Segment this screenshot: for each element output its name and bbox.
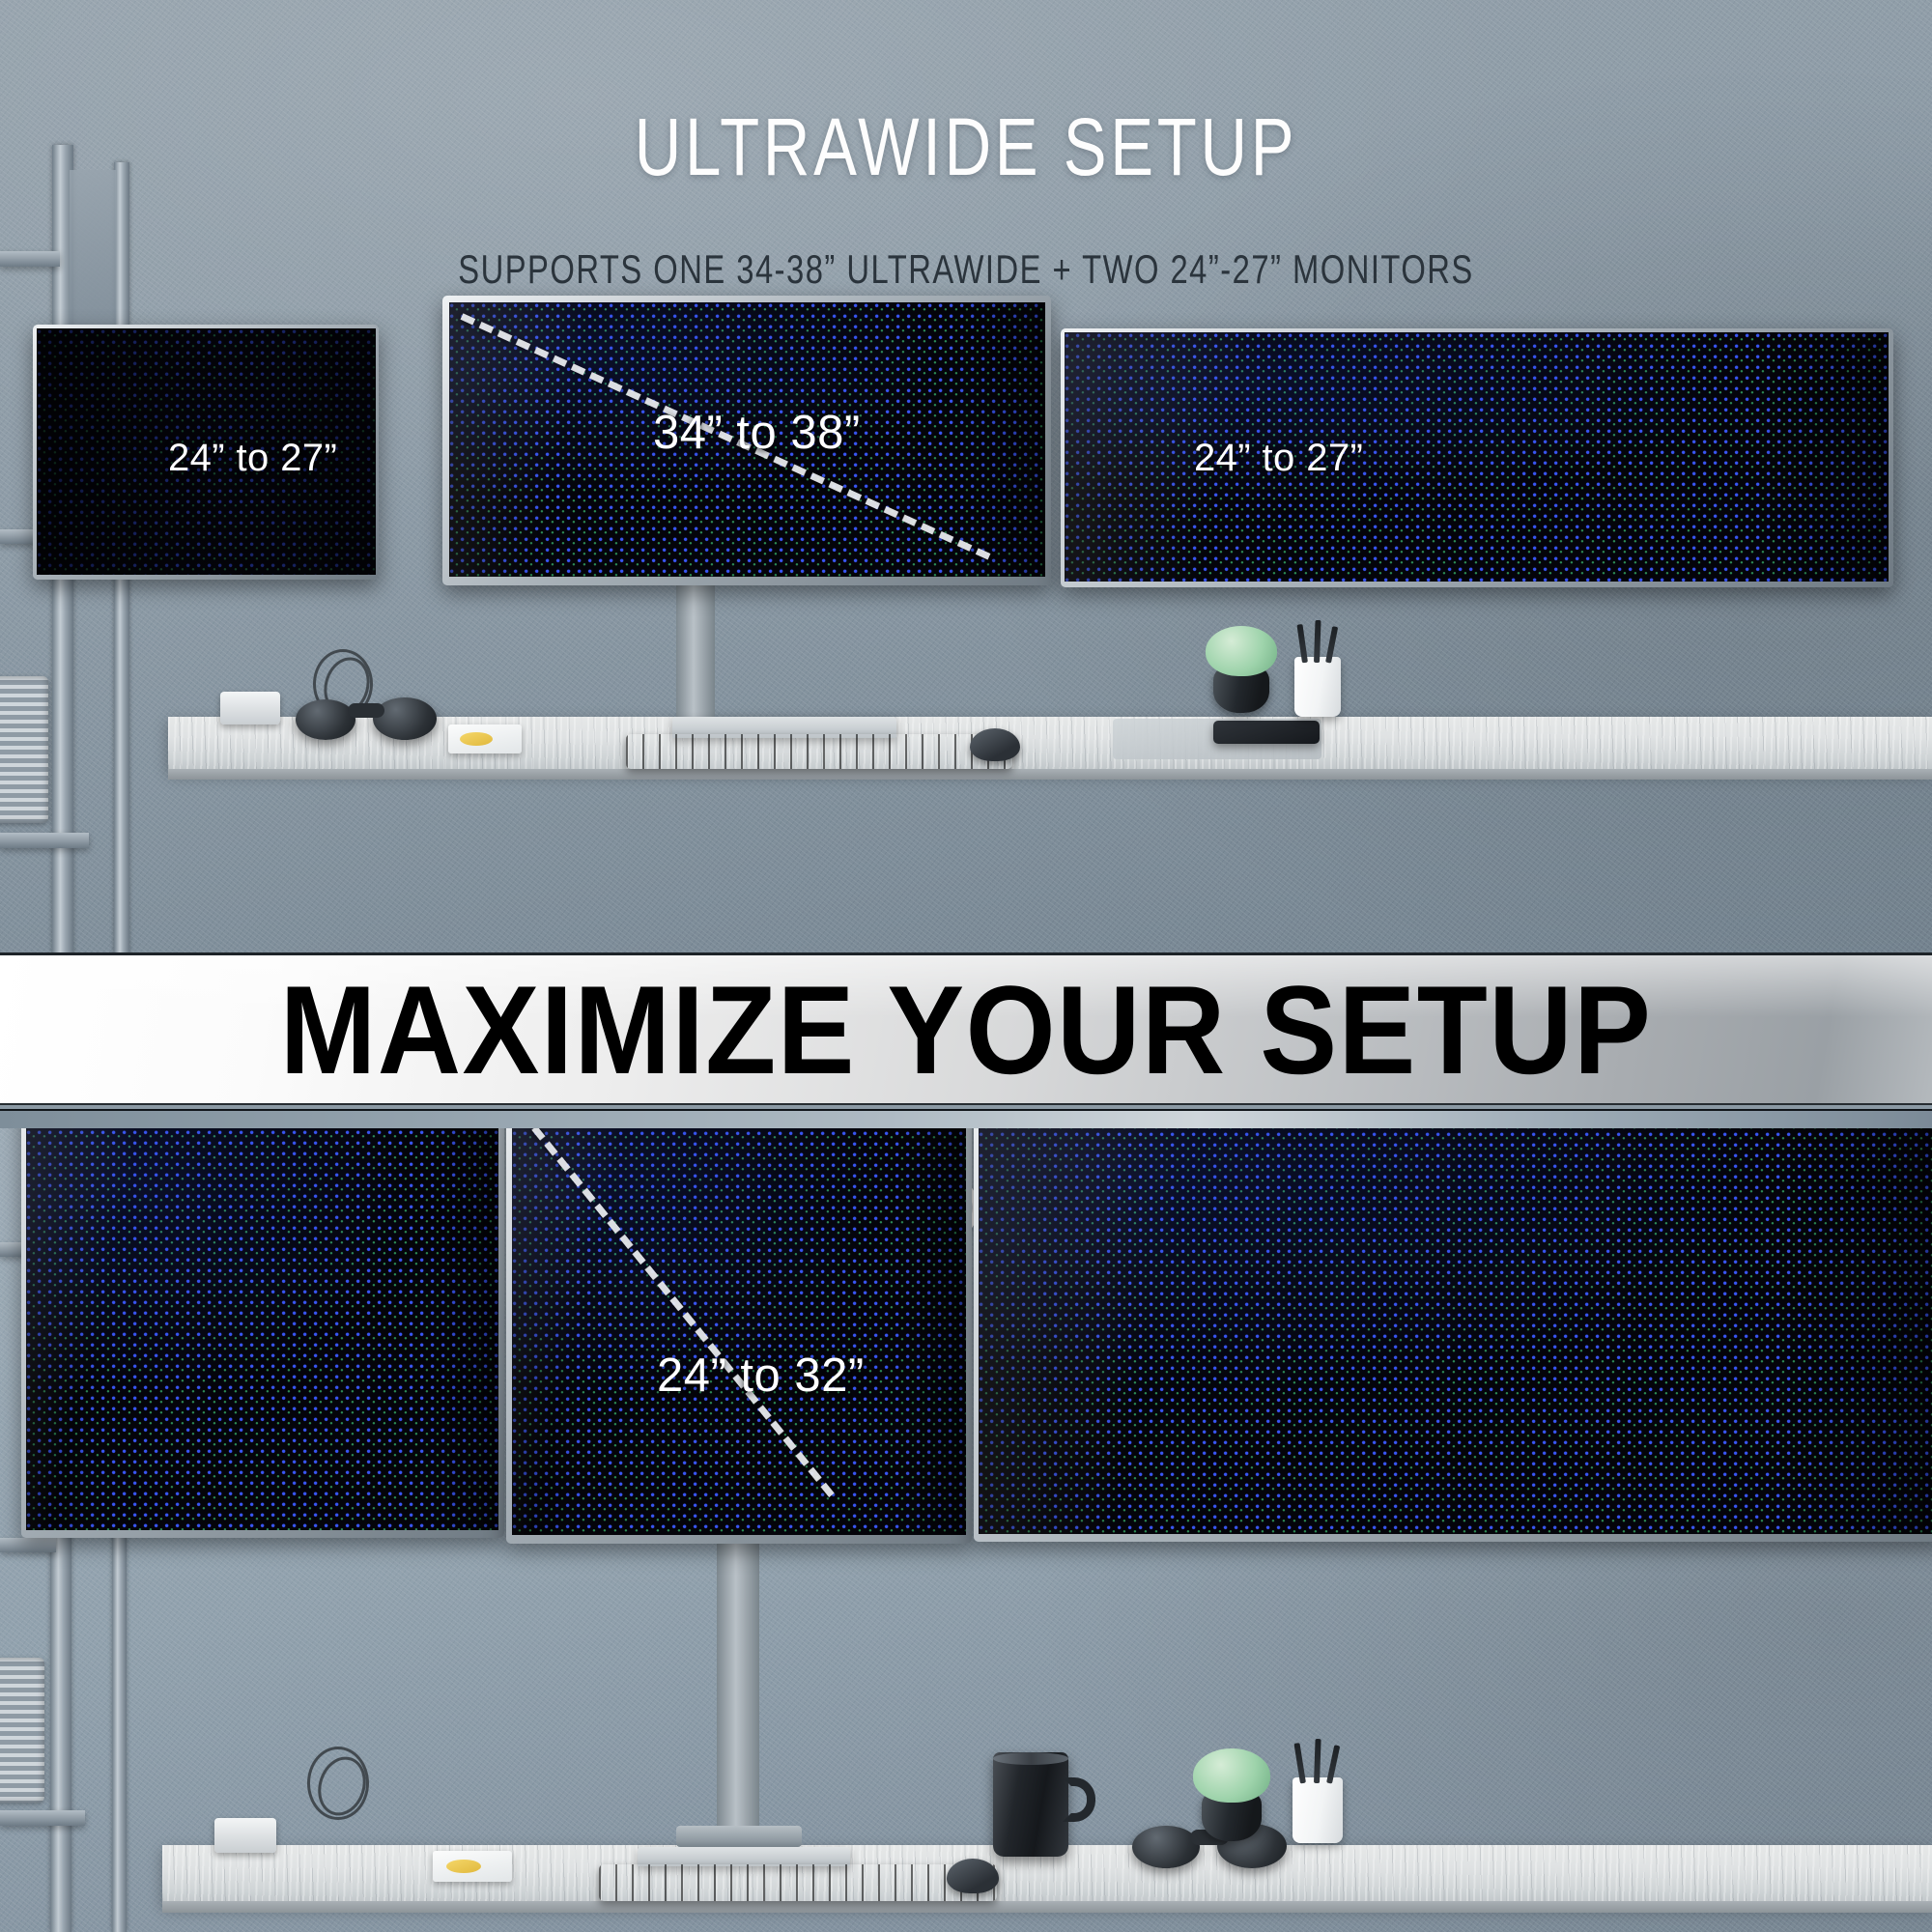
center-monitor-size-label: 34” to 38”: [653, 406, 861, 460]
headphone-band: [348, 703, 384, 718]
succulent-top: [1206, 626, 1277, 676]
mug-rim: [993, 1752, 1068, 1765]
banner-plate: MAXIMIZE YOUR SETUP: [0, 952, 1932, 1105]
charging-puck: [214, 1818, 276, 1853]
center-monitor-size-label: 24” to 32”: [657, 1349, 865, 1403]
succulent-bottom: [1193, 1748, 1270, 1803]
plant-pot-bottom: [1202, 1791, 1262, 1841]
maximize-your-setup-banner: MAXIMIZE YOUR SETUP: [0, 952, 1932, 1128]
headphones-top: [296, 690, 440, 740]
banner-bottom-strip: [0, 1109, 1932, 1128]
coffee-mug: [993, 1752, 1068, 1857]
notepad: [433, 1851, 512, 1882]
keyboard-bottom: [599, 1864, 997, 1901]
pencil-2: [1314, 620, 1321, 663]
desk-edge: [168, 769, 1932, 780]
left-monitor-size-label: 24” to 27”: [168, 437, 337, 480]
right-monitor-size-label: 24” to 27”: [1194, 437, 1363, 480]
pencil-cup-top: [1294, 657, 1341, 717]
notepad-sticker: [446, 1860, 481, 1873]
mouse-bottom: [947, 1859, 999, 1893]
monitor-stand-pole: [717, 1542, 759, 1843]
right-monitor-screen: [1065, 332, 1889, 582]
headphone-earcup-right: [373, 697, 437, 740]
monitor-stand-pole: [676, 583, 715, 719]
notepad: [448, 724, 522, 753]
standard-monitor-setup-panel: 24” to 32”: [0, 1128, 1932, 1932]
center-monitor-bottom: [506, 1128, 972, 1544]
notepad-sticker: [460, 732, 493, 746]
monitor-stand-base: [676, 1826, 802, 1847]
charging-puck: [220, 692, 280, 724]
keyboard-top: [626, 734, 1012, 769]
pencil-2: [1314, 1739, 1321, 1783]
left-monitor-bottom: [21, 1128, 504, 1538]
left-monitor-screen: [26, 1128, 498, 1530]
ultrawide-setup-panel: 24” to 27” 34” to 38” 24” to 27”: [0, 0, 1932, 958]
banner-text: MAXIMIZE YOUR SETUP: [77, 967, 1855, 1093]
laptop: [638, 1847, 850, 1866]
tablet: [1213, 721, 1320, 744]
desk-edge: [162, 1901, 1932, 1913]
headphone-earcup-left: [1132, 1826, 1200, 1868]
mouse-top: [970, 728, 1020, 761]
right-monitor-screen: [979, 1128, 1932, 1534]
pencil-cup-bottom: [1293, 1777, 1343, 1843]
plant-pot-top: [1213, 667, 1269, 713]
product-marketing-image: 24” to 27” 34” to 38” 24” to 27”: [0, 0, 1932, 1932]
right-monitor: [1061, 328, 1893, 587]
right-monitor-bottom: [974, 1128, 1932, 1542]
headphone-earcup-left: [296, 699, 355, 740]
